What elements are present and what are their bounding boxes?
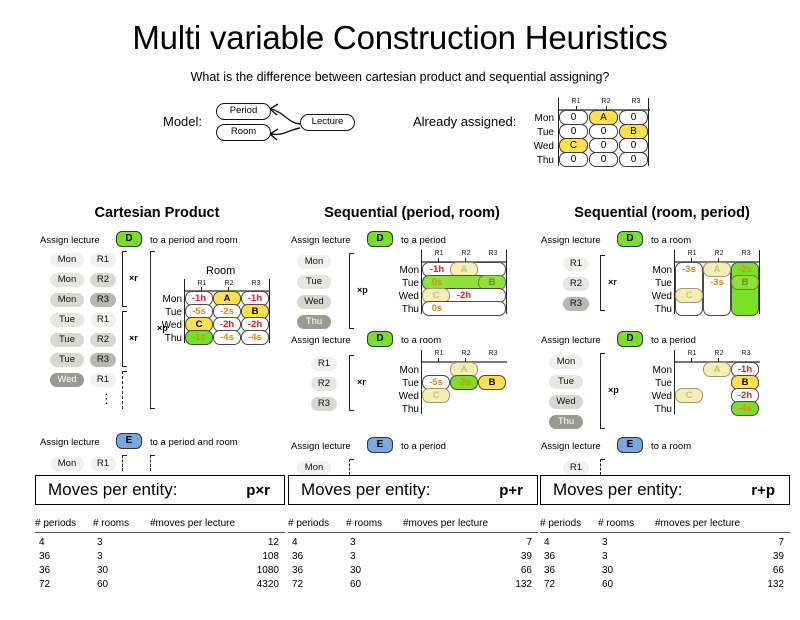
cell-rooms: 3 xyxy=(602,551,608,562)
cell-periods: 36 xyxy=(544,551,555,562)
multiplier-p: ×p xyxy=(357,285,368,295)
cell-moves: 7 xyxy=(468,537,532,548)
grid-row-thu: Thu xyxy=(642,402,672,417)
moves-box-cartesian: Moves per entity: p×r xyxy=(35,475,285,505)
cell-periods: 72 xyxy=(544,579,555,590)
multiplier-r: ×r xyxy=(129,273,138,283)
grid-col-r2: R2 xyxy=(215,280,243,287)
list-item-room: R1 xyxy=(563,257,589,271)
cell-moves: 39 xyxy=(468,551,532,562)
list-item-period: Thu xyxy=(297,315,331,329)
entity-room: Room xyxy=(216,124,271,141)
cell-rooms: 60 xyxy=(350,579,361,590)
cell-thu-r3: -4s xyxy=(731,401,759,416)
list-item-period: Wed xyxy=(50,373,84,387)
page-title: Multi variable Construction Heuristics xyxy=(0,20,800,56)
list-item-period: Mon xyxy=(50,457,84,471)
cell-thu-span-text: 0s xyxy=(424,302,450,315)
cell-periods: 4 xyxy=(292,537,298,548)
list-item-period: Tue xyxy=(549,375,583,389)
multiplier-r: ×r xyxy=(608,277,617,287)
seq-pr-grid-period: R1 R2 R3 Mon Tue Wed Thu -1h A 0s B C -2… xyxy=(407,250,527,332)
already-assigned-row-thu: Thu xyxy=(524,153,554,168)
list-item-period: Thu xyxy=(549,415,583,429)
list-item-room: R1 xyxy=(563,461,589,475)
grid-row-thu: Thu xyxy=(152,331,182,346)
assign-line-d-period-col2: Assign lecture D to a period xyxy=(291,231,537,251)
cell-mon-r2: A xyxy=(589,110,618,125)
grid-col-r1: R1 xyxy=(425,250,453,257)
assign-line-d-col1: Assign lecture D to a period and room xyxy=(40,231,282,251)
e-row-col1: Mon R1 xyxy=(32,453,282,473)
col-header-moves: #moves per lecture xyxy=(150,518,235,529)
cell-mon-r3: 0 xyxy=(619,110,648,125)
grid-row-thu: Thu xyxy=(389,402,419,417)
column-heading-seq-rp: Sequential (room, period) xyxy=(537,205,787,221)
lecture-pill-e[interactable]: E xyxy=(617,437,643,453)
cell-thu-r1: -1s xyxy=(185,330,213,345)
already-assigned-row-tue: Tue xyxy=(524,125,554,140)
grid-col-r3: R3 xyxy=(479,350,507,357)
cell-tue-r1: 0 xyxy=(559,124,588,139)
col-header-periods: # periods xyxy=(35,518,76,529)
list-item-period: Mon xyxy=(50,293,84,307)
col-header-periods: # periods xyxy=(288,518,329,529)
assign-suffix: to a room xyxy=(651,441,691,452)
e-row-col2: Mon xyxy=(287,457,537,477)
table-row: 72 60 4320 xyxy=(35,579,285,593)
cell-thu-r2: 0 xyxy=(589,152,618,167)
assign-prefix: Assign lecture xyxy=(40,235,100,246)
list-item-room: R2 xyxy=(90,273,116,287)
assign-suffix: to a period xyxy=(401,235,446,246)
cell-rooms: 3 xyxy=(602,537,608,548)
cell-moves: 132 xyxy=(468,579,532,590)
assign-prefix: Assign lecture xyxy=(541,335,601,346)
cell-periods: 4 xyxy=(544,537,550,548)
seq-rp-period-list-area: Mon Tue Wed Thu ×p R1 R2 R3 Mon Tue Wed … xyxy=(537,351,787,431)
model-row: Model: Period Room Lecture Already assig… xyxy=(0,92,800,154)
grid-col-r3: R3 xyxy=(242,280,270,287)
table-header-row: # periods # rooms #moves per lecture xyxy=(540,518,790,533)
already-assigned-grid: R1 R2 R3 Mon Tue Wed Thu 0 A 0 0 0 B C 0… xyxy=(538,76,648,166)
cell-rooms: 30 xyxy=(350,565,361,576)
grid-col-r1: R1 xyxy=(678,250,706,257)
column-cartesian-product: Cartesian Product Assign lecture D to a … xyxy=(32,205,282,473)
cell-periods: 72 xyxy=(292,579,303,590)
cell-thu-r1: 0 xyxy=(559,152,588,167)
grid-col-r1: R1 xyxy=(425,350,453,357)
lecture-pill-d[interactable]: D xyxy=(367,331,393,347)
cell-moves: 1080 xyxy=(215,565,279,576)
table-row: 36 30 66 xyxy=(288,565,538,579)
cell-moves: 132 xyxy=(720,579,784,590)
list-item-period: Wed xyxy=(297,295,331,309)
table-row: 36 3 39 xyxy=(288,551,538,565)
table-row: 36 30 66 xyxy=(540,565,790,579)
assign-prefix: Assign lecture xyxy=(291,441,351,452)
column-heading-cartesian: Cartesian Product xyxy=(32,205,282,221)
cell-periods: 72 xyxy=(39,579,50,590)
cell-mon-r1-text: -3s xyxy=(675,263,703,276)
list-item-room: R3 xyxy=(563,297,589,311)
cell-moves: 66 xyxy=(720,565,784,576)
grid-col-r3: R3 xyxy=(732,250,760,257)
cell-rooms: 60 xyxy=(602,579,613,590)
moves-table-cartesian: # periods # rooms #moves per lecture 4 3… xyxy=(35,518,285,593)
assign-line-e-col2: Assign lecture E to a period xyxy=(291,437,537,457)
seq-rp-grid-period: R1 R2 R3 Mon Tue Wed Thu A -1h B C -2h -… xyxy=(660,350,785,432)
entity-lecture: Lecture xyxy=(300,114,355,131)
already-assigned-row-mon: Mon xyxy=(524,111,554,126)
list-item-period: Mon xyxy=(297,461,331,475)
seq-pr-room-list-area: R1 R2 R3 ×r R1 R2 R3 Mon Tue Wed Thu A -… xyxy=(287,351,537,431)
grid-caption-room: Room xyxy=(206,265,235,277)
assign-suffix: to a period and room xyxy=(150,437,238,448)
cell-periods: 36 xyxy=(544,565,555,576)
list-item-period: Wed xyxy=(549,395,583,409)
already-assigned-col-r2: R2 xyxy=(592,98,620,105)
grid-row-thu: Thu xyxy=(642,302,672,317)
moves-table-seq-pr: # periods # rooms #moves per lecture 4 3… xyxy=(288,518,538,593)
seq-rp-room-list-area: R1 R2 R3 ×r R1 R2 R3 Mon Tue Wed Thu xyxy=(537,251,787,331)
lecture-pill-d[interactable]: D xyxy=(617,331,643,347)
assign-line-e-col3: Assign lecture E to a room xyxy=(541,437,787,457)
table-row: 72 60 132 xyxy=(540,579,790,593)
grid-col-r2: R2 xyxy=(452,250,480,257)
table-row: 4 3 7 xyxy=(288,537,538,551)
assign-suffix: to a period and room xyxy=(150,235,238,246)
table-row: 72 60 132 xyxy=(288,579,538,593)
already-assigned-col-r3: R3 xyxy=(622,98,650,105)
list-item-room: R3 xyxy=(90,353,116,367)
column-sequential-period-room: Sequential (period, room) Assign lecture… xyxy=(287,205,537,477)
cell-rooms: 30 xyxy=(602,565,613,576)
assign-suffix: to a period xyxy=(651,335,696,346)
list-item-room: R2 xyxy=(563,277,589,291)
grid-vline-right xyxy=(269,279,270,343)
cell-rooms: 3 xyxy=(350,537,356,548)
seq-pr-grid-room: R1 R2 R3 Mon Tue Wed Thu A -5s -2s B C xyxy=(407,350,527,432)
moves-formula: p+r xyxy=(499,482,523,499)
moves-label: Moves per entity: xyxy=(301,480,430,500)
cell-mon-r2: A xyxy=(703,262,731,277)
cell-wed-r1: C xyxy=(422,388,450,403)
table-row: 4 3 12 xyxy=(35,537,285,551)
column-sequential-room-period: Sequential (room, period) Assign lecture… xyxy=(537,205,787,477)
assign-prefix: Assign lecture xyxy=(40,437,100,448)
cell-periods: 4 xyxy=(39,537,45,548)
assign-prefix: Assign lecture xyxy=(291,235,351,246)
list-item-period: Mon xyxy=(549,355,583,369)
cell-wed-r1: C xyxy=(559,138,588,153)
cell-moves: 108 xyxy=(215,551,279,562)
moves-formula: r+p xyxy=(751,482,775,499)
grid-col-r2: R2 xyxy=(452,350,480,357)
grid-col-r2: R2 xyxy=(705,250,733,257)
page-subtitle: What is the difference between cartesian… xyxy=(0,70,800,84)
moves-box-seq-pr: Moves per entity: p+r xyxy=(288,475,538,505)
cell-periods: 36 xyxy=(292,551,303,562)
cell-wed-r2: 0 xyxy=(589,138,618,153)
cell-thu-r2: -4s xyxy=(213,330,241,345)
assign-line-e-col1: Assign lecture E to a period and room xyxy=(40,433,282,453)
list-item-period: Tue xyxy=(50,333,84,347)
cell-wed-r3: 0 xyxy=(619,138,648,153)
cell-rooms: 3 xyxy=(350,551,356,562)
table-row: 4 3 7 xyxy=(540,537,790,551)
list-item-period: Mon xyxy=(297,255,331,269)
grid-vline-right xyxy=(648,98,649,166)
cell-rooms: 3 xyxy=(97,551,103,562)
assign-line-d-room-col2: Assign lecture D to a room xyxy=(291,331,537,351)
cartesian-grid: Room R1 R2 R3 Mon Tue Wed Thu -1h A -1h … xyxy=(172,265,282,357)
col-header-moves: #moves per lecture xyxy=(403,518,488,529)
moves-formula: p×r xyxy=(246,482,270,499)
list-item-period: Mon xyxy=(50,273,84,287)
lecture-pill-d[interactable]: D xyxy=(116,231,142,247)
grid-tick-1 xyxy=(691,358,692,362)
multiplier-r: ×r xyxy=(357,377,366,387)
grid-vline-right xyxy=(506,250,507,314)
grid-vline-right xyxy=(759,250,760,314)
cell-wed-r1: C xyxy=(675,288,703,303)
grid-col-r3: R3 xyxy=(732,350,760,357)
assign-line-d-period-col3: Assign lecture D to a period xyxy=(541,331,787,351)
list-item-room: R3 xyxy=(90,293,116,307)
cell-rooms: 30 xyxy=(97,565,108,576)
list-item-room: R2 xyxy=(90,333,116,347)
col-header-rooms: # rooms xyxy=(93,518,129,529)
cell-tue-r2: -2s xyxy=(450,375,478,390)
list-item-room: R1 xyxy=(90,373,116,387)
lecture-pill-e[interactable]: E xyxy=(367,437,393,453)
already-assigned-col-r1: R1 xyxy=(562,98,590,105)
lecture-pill-e[interactable]: E xyxy=(116,433,142,449)
cell-moves: 66 xyxy=(468,565,532,576)
grid-col-r2: R2 xyxy=(705,350,733,357)
list-item-period: Tue xyxy=(297,275,331,289)
cell-tue-r3: B xyxy=(619,124,648,139)
grid-tick-1 xyxy=(438,358,439,362)
multiplier-r: ×r xyxy=(129,333,138,343)
assign-suffix: to a room xyxy=(401,335,441,346)
cell-moves: 12 xyxy=(215,537,279,548)
seq-pr-period-list-area: Mon Tue Wed Thu ×p R1 R2 R3 Mon Tue Wed … xyxy=(287,251,537,331)
cell-tue-r3: B xyxy=(731,275,759,290)
col-header-periods: # periods xyxy=(540,518,581,529)
cell-moves: 4320 xyxy=(215,579,279,590)
cell-periods: 36 xyxy=(39,551,50,562)
moves-table-seq-rp: # periods # rooms #moves per lecture 4 3… xyxy=(540,518,790,593)
cell-tue-r2: 0 xyxy=(589,124,618,139)
list-item-room: R1 xyxy=(311,357,337,371)
list-item-room: R1 xyxy=(90,457,116,471)
assign-suffix: to a room xyxy=(651,235,691,246)
col-header-rooms: # rooms xyxy=(598,518,634,529)
table-row: 36 3 108 xyxy=(35,551,285,565)
cell-mon-r2: A xyxy=(703,362,731,377)
list-item-room: R2 xyxy=(311,377,337,391)
cell-periods: 36 xyxy=(39,565,50,576)
assign-prefix: Assign lecture xyxy=(541,441,601,452)
cell-moves: 7 xyxy=(720,537,784,548)
col-header-moves: #moves per lecture xyxy=(655,518,740,529)
lecture-pill-d[interactable]: D xyxy=(617,231,643,247)
assign-prefix: Assign lecture xyxy=(541,235,601,246)
already-assigned-row-wed: Wed xyxy=(524,139,554,154)
seq-rp-grid-room: R1 R2 R3 Mon Tue Wed Thu -3s A -2s -3s B… xyxy=(660,250,785,332)
cell-tue-r3: B xyxy=(478,375,506,390)
already-assigned-label: Already assigned: xyxy=(413,114,516,129)
assign-prefix: Assign lecture xyxy=(291,335,351,346)
cartesian-pair-list-area: Mon R1 Mon R2 Mon R3 Tue R1 Tue R2 Tue R… xyxy=(32,251,282,411)
list-item-period: Tue xyxy=(50,313,84,327)
list-item-room: R1 xyxy=(90,253,116,267)
table-row: 36 30 1080 xyxy=(35,565,285,579)
list-item-period: Tue xyxy=(50,353,84,367)
moves-box-seq-rp: Moves per entity: r+p xyxy=(540,475,790,505)
assign-suffix: to a period xyxy=(401,441,446,452)
grid-col-r3: R3 xyxy=(479,250,507,257)
table-header-row: # periods # rooms #moves per lecture xyxy=(288,518,538,533)
cell-rooms: 3 xyxy=(97,537,103,548)
cell-rooms: 60 xyxy=(97,579,108,590)
list-item-room: R3 xyxy=(311,397,337,411)
cell-thu-r3: -4s xyxy=(241,330,269,345)
lecture-pill-d[interactable]: D xyxy=(367,231,393,247)
ellipsis-vertical: ⋮ xyxy=(100,397,113,401)
list-item-room: R1 xyxy=(90,313,116,327)
table-row: 36 3 39 xyxy=(540,551,790,565)
list-item-period: Mon xyxy=(50,253,84,267)
cell-tue-r2-text: -3s xyxy=(703,276,731,289)
cell-wed-r1: C xyxy=(675,388,703,403)
grid-row-thu: Thu xyxy=(389,302,419,317)
moves-label: Moves per entity: xyxy=(48,480,177,500)
grid-vline-left xyxy=(674,350,675,414)
table-header-row: # periods # rooms #moves per lecture xyxy=(35,518,285,533)
grid-col-r1: R1 xyxy=(678,350,706,357)
multiplier-p: ×p xyxy=(608,385,619,395)
moves-label: Moves per entity: xyxy=(553,480,682,500)
cell-moves: 39 xyxy=(720,551,784,562)
entity-period: Period xyxy=(216,103,271,120)
col-header-rooms: # rooms xyxy=(346,518,382,529)
column-heading-seq-pr: Sequential (period, room) xyxy=(287,205,537,221)
cell-periods: 36 xyxy=(292,565,303,576)
e-row-col3: R1 xyxy=(537,457,787,477)
grid-col-r1: R1 xyxy=(188,280,216,287)
model-connector-svg xyxy=(0,92,420,154)
assign-line-d-room-col3: Assign lecture D to a room xyxy=(541,231,787,251)
cell-mon-r1: 0 xyxy=(559,110,588,125)
cell-thu-r3: 0 xyxy=(619,152,648,167)
